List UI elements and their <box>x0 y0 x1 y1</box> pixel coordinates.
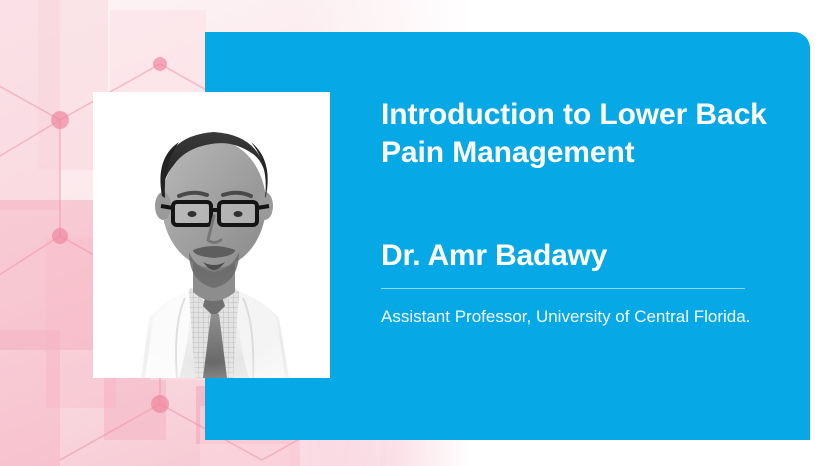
speaker-block: Dr. Amr Badawy Assistant Professor, Univ… <box>381 238 781 328</box>
speaker-role: Assistant Professor, University of Centr… <box>381 305 773 328</box>
speaker-name: Dr. Amr Badawy <box>381 238 781 274</box>
page-title: Introduction to Lower Back Pain Manageme… <box>381 96 781 172</box>
presentation-slide: Introduction to Lower Back Pain Manageme… <box>0 0 828 466</box>
speaker-divider <box>381 288 745 289</box>
speaker-portrait-card <box>93 92 330 378</box>
title-block: Introduction to Lower Back Pain Manageme… <box>381 96 781 172</box>
speaker-photo <box>93 92 330 378</box>
